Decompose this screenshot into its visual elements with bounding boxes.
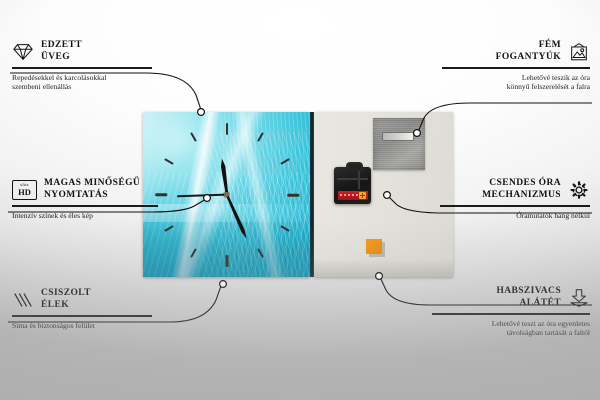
feature-title: HABSZIVACS ALÁTÉT [496,286,561,309]
second-hand [177,194,227,197]
mechanism-shaft [346,162,363,171]
feature-description: Intenzív színek és éles kép [12,211,158,221]
feature-description: Lehetővé teszi az óra egyenletes távolsá… [432,319,590,338]
gear-icon [568,180,590,200]
battery [338,191,368,200]
wall-hanger-icon [568,42,590,62]
divider [12,67,152,69]
feature-metal-handles: FÉM FOGANTYÚK Lehetővé teszik az óra kön… [442,40,590,92]
clock-tick [257,132,264,142]
metal-hanger-plate [373,118,425,170]
battery-plus-terminal [359,192,366,199]
clock-tick [164,225,174,232]
clock-face-panel [143,112,310,277]
feature-silent-mechanism: CSENDES ÓRA MECHANIZMUS Óramutatók hang … [440,178,590,220]
clock-tick [226,123,229,135]
feature-high-quality-print: ultra HD MAGAS MINŐSÉGŰ NYOMTATÁS Intenz… [12,178,158,220]
divider [442,67,590,69]
product-image [143,112,453,277]
feather-streak [143,204,310,222]
feature-description: Óramutatók hang nélkül [440,211,590,221]
clock-mechanism-box [334,167,371,204]
clock-tick [257,248,264,258]
minute-hand [225,194,248,239]
feature-header: EDZETT ÜVEG [12,40,152,63]
divider [12,205,158,207]
clock-tick [190,248,197,258]
polished-edges-icon [12,290,34,310]
mechanism-groove [337,178,368,180]
feature-polished-edges: CSISZOLT ÉLEK Sima és biztonságos felüle… [12,288,152,330]
hanger-slot [382,132,414,141]
diamond-icon [12,42,34,62]
divider [440,205,590,207]
feature-title: EDZETT ÜVEG [41,40,82,63]
clock-tick [190,132,197,142]
feature-description: Lehetővé teszik az óra könnyű felszerelé… [442,73,590,92]
infographic-canvas: EDZETT ÜVEG Repedésekkel és karcolásokka… [0,0,600,400]
feature-description: Repedésekkel és karcolásokkal szembeni e… [12,73,152,92]
clock-tick [164,158,174,165]
feather-streak [203,132,310,277]
feature-header: HABSZIVACS ALÁTÉT [432,286,590,309]
ultra-hd-badge-icon: ultra HD [12,180,37,200]
feature-description: Sima és biztonságos felület [12,321,152,331]
feature-tempered-glass: EDZETT ÜVEG Repedésekkel és karcolásokka… [12,40,152,92]
feature-title: CSISZOLT ÉLEK [41,288,91,311]
clock-tick [280,225,290,232]
mechanism-groove [358,171,360,189]
foam-pad-arrow-icon [568,288,590,308]
foam-pad [366,239,382,254]
feature-header: FÉM FOGANTYÚK [442,40,590,63]
divider [12,315,152,317]
feature-header: CSISZOLT ÉLEK [12,288,152,311]
feature-header: CSENDES ÓRA MECHANIZMUS [440,178,590,201]
hour-hand [219,159,228,195]
feature-title: CSENDES ÓRA MECHANIZMUS [482,178,561,201]
clock-back-panel [314,112,453,277]
divider [432,313,590,315]
feature-title: MAGAS MINŐSÉGŰ NYOMTATÁS [44,178,140,201]
feature-foam-spacer: HABSZIVACS ALÁTÉT Lehetővé teszi az óra … [432,286,590,338]
clock-tick [280,158,290,165]
clock-tick [226,255,229,267]
feature-header: ultra HD MAGAS MINŐSÉGŰ NYOMTATÁS [12,178,158,201]
feature-title: FÉM FOGANTYÚK [496,40,561,63]
clock-tick [287,193,299,196]
clock-center-cap [224,192,229,197]
